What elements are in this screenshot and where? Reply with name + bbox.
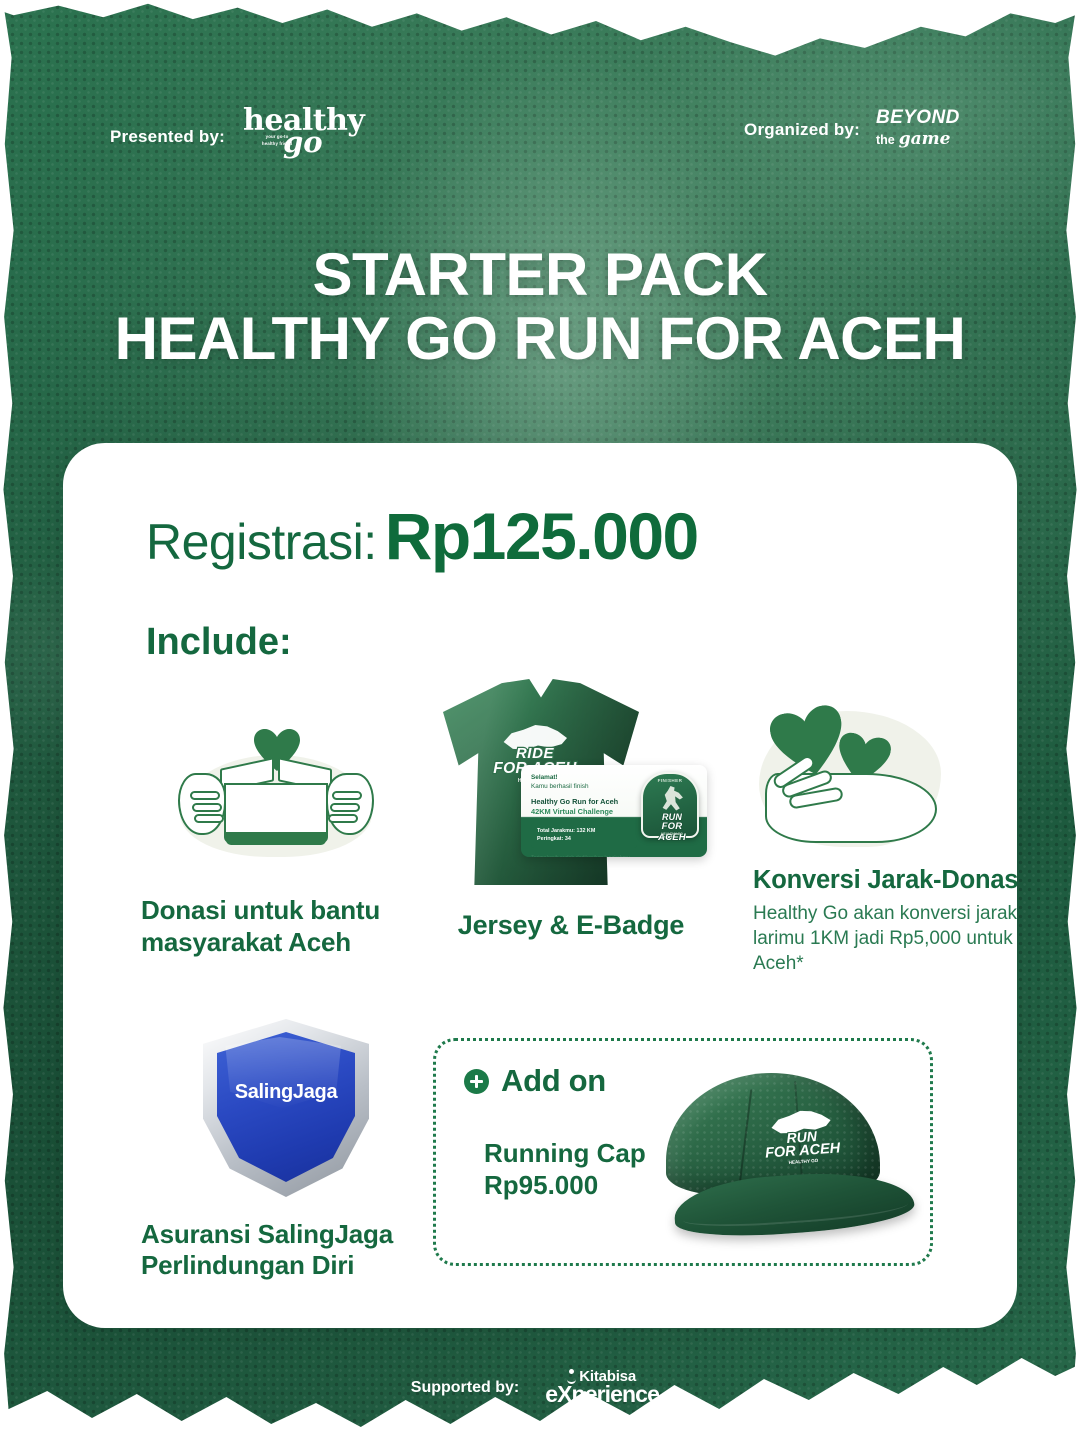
footer: Supported by: Kitabisa eXperience [0, 1368, 1080, 1408]
runner-silhouette-icon [659, 786, 685, 812]
ebadge-subgreeting: Kamu berhasil finish [531, 782, 649, 791]
plus-circle-icon [464, 1069, 489, 1094]
hand-right-finger-2 [330, 803, 360, 812]
hand-with-hearts-icon [759, 703, 959, 853]
open-palm-icon [765, 773, 937, 843]
ebadge-greeting: Selamat! [531, 773, 649, 782]
asuransi-caption: Asuransi SalingJaga Perlindungan Diri [141, 1219, 431, 1281]
beyond-logo-row2: the game [876, 131, 962, 148]
page-title-line1: STARTER PACK [312, 241, 767, 308]
kitabisa-person-icon [567, 1369, 577, 1379]
page-title-line2: HEALTHY GO RUN FOR ACEH [0, 307, 1080, 371]
beyond-logo-line1: BEYOND [876, 107, 960, 128]
addon-product-name: Running Cap [484, 1137, 646, 1169]
hand-left-finger-1 [190, 791, 220, 800]
donation-box-hands-icon [176, 729, 376, 861]
konversi-caption-sub: Healthy Go akan konversi jarak larimu 1K… [753, 901, 1017, 976]
ebadge-event-name: Healthy Go Run for Aceh [531, 797, 649, 807]
kitabisa-logo-line2: eXperience [545, 1381, 659, 1408]
organized-by-block: Organized by: BEYOND the game [744, 108, 962, 152]
box-shadow-strip [226, 832, 326, 845]
jersey-caption: Jersey & E-Badge [421, 909, 721, 943]
page-title: STARTER PACK HEALTHY GO RUN FOR ACEH [0, 243, 1080, 371]
addon-header: Add on [464, 1063, 606, 1099]
ebadge-stat-rank: Peringkat: 34 [537, 835, 631, 843]
ebadge-stat-distance: Total Jarakmu: 132 KM [537, 827, 631, 835]
supported-by-label: Supported by: [411, 1379, 519, 1397]
include-item-donation: Donasi untuk bantu masyarakat Aceh [141, 729, 411, 958]
open-box-icon [220, 763, 332, 847]
starter-pack-card: Registrasi: Rp125.000 Include: [63, 443, 1017, 1328]
kitabisa-experience-logo: Kitabisa eXperience [541, 1368, 669, 1408]
hand-left-icon [176, 767, 232, 843]
include-item-asuransi: SalingJaga Asuransi SalingJaga Perlindun… [141, 1015, 431, 1281]
include-item-jersey: RIDE FOR ACEH HEALTHY GO Selamat! Kamu b… [421, 679, 721, 943]
ebadge-certificate: Selamat! Kamu berhasil finish Healthy Go… [521, 765, 707, 857]
hand-right-icon [320, 767, 376, 843]
ebadge-stats-chip: Total Jarakmu: 132 KM Peringkat: 34 [531, 823, 637, 847]
hand-left-finger-2 [192, 803, 222, 812]
presented-by-label: Presented by: [110, 127, 225, 147]
addon-product-info: Running Cap Rp95.000 [484, 1137, 646, 1201]
registration-price-row: Registrasi: Rp125.000 [146, 498, 698, 574]
medal-logo-tiny: HEALTHY GO [653, 832, 691, 836]
hand-left-finger-3 [194, 814, 224, 823]
running-cap-image: RUN FOR ACEH HEALTHY GO [648, 1063, 922, 1249]
organized-by-label: Organized by: [744, 120, 860, 140]
healthy-go-logo: healthy go your go-to healthy friend [243, 108, 331, 166]
medal-finisher-label: FINISHER [643, 778, 697, 783]
hand-right-finger-1 [332, 791, 362, 800]
jersey-and-ebadge-artwork: RIDE FOR ACEH HEALTHY GO Selamat! Kamu b… [421, 679, 721, 891]
registration-label: Registrasi: [146, 513, 377, 571]
poster-root: Presented by: healthy go your go-to heal… [0, 0, 1080, 1440]
ebadge-text-block: Selamat! Kamu berhasil finish Healthy Go… [531, 773, 649, 857]
beyond-the-game-logo: BEYOND the game [876, 108, 962, 152]
registration-price: Rp125.000 [385, 498, 698, 574]
beyond-logo-line2: the [876, 134, 895, 147]
include-item-konversi: Konversi Jarak-Donasi Healthy Go akan ko… [753, 703, 1017, 976]
shield-brand-text: SalingJaga [217, 1081, 355, 1104]
ebadge-challenge: 42KM Virtual Challenge [531, 807, 649, 817]
addon-title: Add on [501, 1063, 606, 1099]
konversi-caption-title: Konversi Jarak-Donasi [753, 865, 1017, 896]
donation-caption: Donasi untuk bantu masyarakat Aceh [141, 895, 411, 958]
header: Presented by: healthy go your go-to heal… [0, 0, 1080, 200]
addon-product-price: Rp95.000 [484, 1169, 646, 1201]
addon-box[interactable]: Add on Running Cap Rp95.000 RUN FOR ACEH… [433, 1038, 933, 1266]
finisher-medal-icon: FINISHER RUN FOR ACEH HEALTHY GO [641, 772, 699, 838]
healthy-go-logo-tagline: your go-to healthy friend [257, 134, 297, 147]
beyond-logo-line3: game [899, 131, 951, 148]
salingjaga-shield-icon: SalingJaga [193, 1015, 379, 1201]
hand-right-finger-3 [328, 814, 358, 823]
presented-by-block: Presented by: healthy go your go-to heal… [110, 108, 331, 166]
include-heading: Include: [146, 621, 292, 664]
ebadge-thanks: Terimakasih sudah dedikasikan langkahmu … [531, 854, 643, 858]
cap-front-logo: RUN FOR ACEH HEALTHY GO [754, 1108, 850, 1174]
